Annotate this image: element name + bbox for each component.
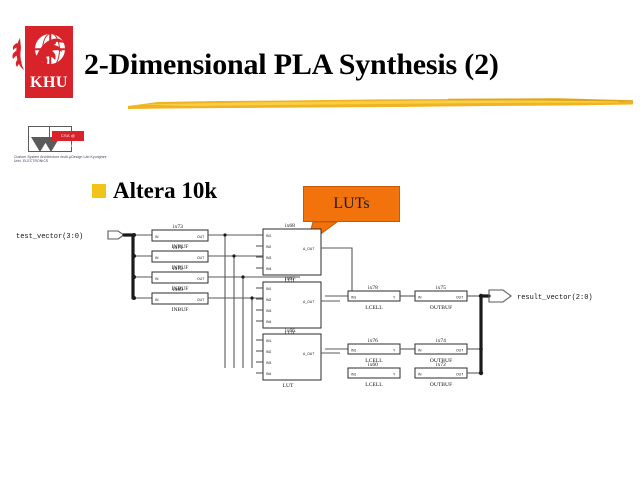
- lut-ix66-ref: ix66: [285, 328, 295, 334]
- svg-text:IN1: IN1: [266, 287, 271, 291]
- bird-emblem-icon: [31, 34, 67, 68]
- luts-callout: LUTs: [303, 186, 400, 222]
- svg-text:OUT: OUT: [197, 277, 204, 281]
- slide-canvas: KHU 2-Dimensional PLA Synthesis (2) CSA …: [0, 0, 640, 480]
- csa-lab-logo: CSA @ KYUNGHEE Custom System Architectur…: [14, 126, 114, 171]
- svg-text:IN4: IN4: [266, 372, 271, 376]
- outbuf-ix72-type: OUTBUF: [430, 382, 452, 388]
- svg-text:IN: IN: [155, 235, 159, 239]
- svg-text:A_OUT: A_OUT: [303, 247, 314, 251]
- outbuf-ix74: ix74 IN OUT OUTBUF: [415, 338, 481, 364]
- svg-text:IN3: IN3: [266, 361, 271, 365]
- routing-channel: [223, 233, 253, 368]
- svg-text:IN3: IN3: [266, 256, 271, 260]
- svg-text:IN4: IN4: [266, 267, 271, 271]
- svg-text:IN2: IN2: [266, 298, 271, 302]
- svg-text:IN4: IN4: [266, 320, 271, 324]
- svg-text:OUT: OUT: [197, 298, 204, 302]
- outbuf-ix75: ix75 IN OUT OUTBUF: [415, 285, 481, 311]
- lcell-ix76-ref: ix76: [368, 338, 378, 344]
- svg-text:IN3: IN3: [266, 309, 271, 313]
- output-bus: [479, 294, 489, 375]
- svg-text:OUT: OUT: [456, 296, 463, 300]
- lut-ix66: ix66 IN1 IN2 IN3 IN4 A_OUT LUT: [256, 328, 340, 389]
- inbuf-ix69-type: INBUF: [172, 307, 189, 313]
- lcell-ix78: ix78 IN1 Y LCELL: [325, 285, 415, 311]
- csa-badge: CSA @ KYUNGHEE: [52, 131, 84, 141]
- svg-text:IN1: IN1: [351, 296, 356, 300]
- svg-text:IN: IN: [418, 296, 422, 300]
- lcell-ix60-type: LCELL: [365, 382, 383, 388]
- inbuf-ix71-ref: ix71: [173, 245, 183, 251]
- svg-text:IN: IN: [155, 256, 159, 260]
- bullet-square-icon: [92, 184, 106, 198]
- lcell-ix60-ref: ix60: [368, 362, 378, 368]
- outbuf-ix72: ix72 IN OUT OUTBUF: [415, 362, 481, 388]
- khu-logo: KHU: [11, 26, 73, 98]
- svg-text:IN1: IN1: [266, 339, 271, 343]
- lcell-ix60: ix60 IN1 Y LCELL: [348, 362, 400, 388]
- csa-badge-label: CSA @ KYUNGHEE: [52, 131, 84, 151]
- outbuf-ix74-ref: ix74: [436, 338, 446, 344]
- svg-text:OUT: OUT: [456, 349, 463, 353]
- svg-text:IN: IN: [155, 298, 159, 302]
- svg-text:A_OUT: A_OUT: [303, 300, 314, 304]
- svg-text:OUT: OUT: [456, 373, 463, 377]
- outbuf-ix72-ref: ix72: [436, 362, 446, 368]
- svg-text:IN2: IN2: [266, 245, 271, 249]
- svg-text:OUT: OUT: [197, 235, 204, 239]
- bullet-altera-10k: Altera 10k: [92, 178, 217, 204]
- lut-ix68-ref: ix68: [285, 223, 295, 229]
- lut-ix66-type: LUT: [283, 383, 294, 389]
- lcell-ix78-type: LCELL: [365, 305, 383, 311]
- lut-ix67: ix67 IN1 IN2 IN3 IN4 A_OUT LUT: [256, 276, 340, 337]
- outbuf-ix75-ref: ix75: [436, 285, 446, 291]
- lcell-ix76: ix76 IN1 Y LCELL: [325, 338, 415, 364]
- input-port-label: test_vector(3:0): [16, 233, 83, 241]
- inbuf-ix72-ref: ix72: [173, 266, 183, 272]
- outbuf-ix75-type: OUTBUF: [430, 305, 452, 311]
- luts-callout-label: LUTs: [304, 187, 399, 221]
- khu-wordmark: KHU: [25, 71, 73, 95]
- output-port-label: result_vector(2:0): [517, 294, 593, 302]
- gold-brush-underline: [128, 95, 633, 111]
- lcell-ix78-ref: ix78: [368, 285, 378, 291]
- schematic-svg: .wire{stroke:#5a5a5a;stroke-width:1.1;fi…: [0, 218, 640, 403]
- input-port-symbol: test_vector(3:0): [16, 231, 133, 241]
- slide-title: 2-Dimensional PLA Synthesis (2): [84, 48, 629, 82]
- inbuf-ix73-ref: ix73: [173, 224, 183, 230]
- svg-text:A_OUT: A_OUT: [303, 352, 314, 356]
- svg-text:IN: IN: [155, 277, 159, 281]
- svg-text:IN: IN: [418, 373, 422, 377]
- csa-caption: Custom System Architecture multi-μDesign…: [14, 155, 114, 164]
- svg-text:IN1: IN1: [266, 234, 271, 238]
- bullet-label: Altera 10k: [113, 178, 217, 204]
- svg-text:IN1: IN1: [351, 349, 356, 353]
- svg-text:IN1: IN1: [351, 373, 356, 377]
- svg-text:IN2: IN2: [266, 350, 271, 354]
- output-port-symbol: result_vector(2:0): [489, 290, 593, 302]
- inbuf-ix69-ref: ix69: [173, 287, 183, 293]
- lut-ix67-ref: ix67: [285, 276, 295, 282]
- svg-text:OUT: OUT: [197, 256, 204, 260]
- svg-text:IN: IN: [418, 349, 422, 353]
- schematic-diagram: .wire{stroke:#5a5a5a;stroke-width:1.1;fi…: [0, 218, 640, 403]
